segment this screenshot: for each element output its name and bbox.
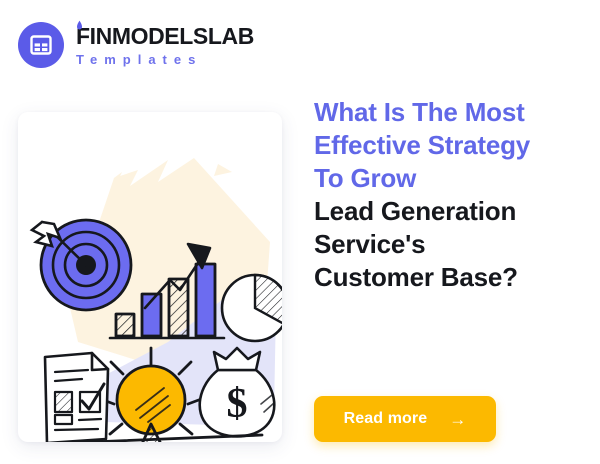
pie-chart: [222, 275, 282, 341]
headline-accent-line-1: What Is The Most: [314, 96, 582, 129]
read-more-label: Read more: [344, 410, 428, 428]
money-bag-symbol: $: [227, 381, 248, 427]
headline-dark-line-2: Service's: [314, 228, 582, 261]
brand-name: FINMODELSLAB: [76, 25, 254, 48]
headline-accent-line-3: To Grow: [314, 162, 582, 195]
grid-table-icon: [29, 33, 53, 57]
headline-dark-line-1: Lead Generation: [314, 195, 582, 228]
brand-wordmark: FINMODELSLAB Templates: [76, 25, 254, 66]
brand-logo[interactable]: FINMODELSLAB Templates: [18, 22, 254, 68]
read-more-button[interactable]: Read more →: [314, 396, 496, 442]
illustration-card: $: [18, 112, 282, 442]
headline-dark-line-3: Customer Base?: [314, 261, 582, 294]
banner-canvas: FINMODELSLAB Templates: [0, 0, 600, 464]
target-bullseye-with-arrow: [32, 220, 131, 310]
document-with-checkmark: [45, 353, 108, 442]
business-growth-strategy-illustration: $: [18, 112, 282, 442]
brand-subtitle: Templates: [76, 53, 254, 66]
page-title: What Is The Most Effective Strategy To G…: [314, 96, 582, 294]
headline-block: What Is The Most Effective Strategy To G…: [314, 96, 582, 294]
arrow-right-icon: →: [449, 411, 466, 428]
headline-accent-line-2: Effective Strategy: [314, 129, 582, 162]
logo-badge: [18, 22, 64, 68]
